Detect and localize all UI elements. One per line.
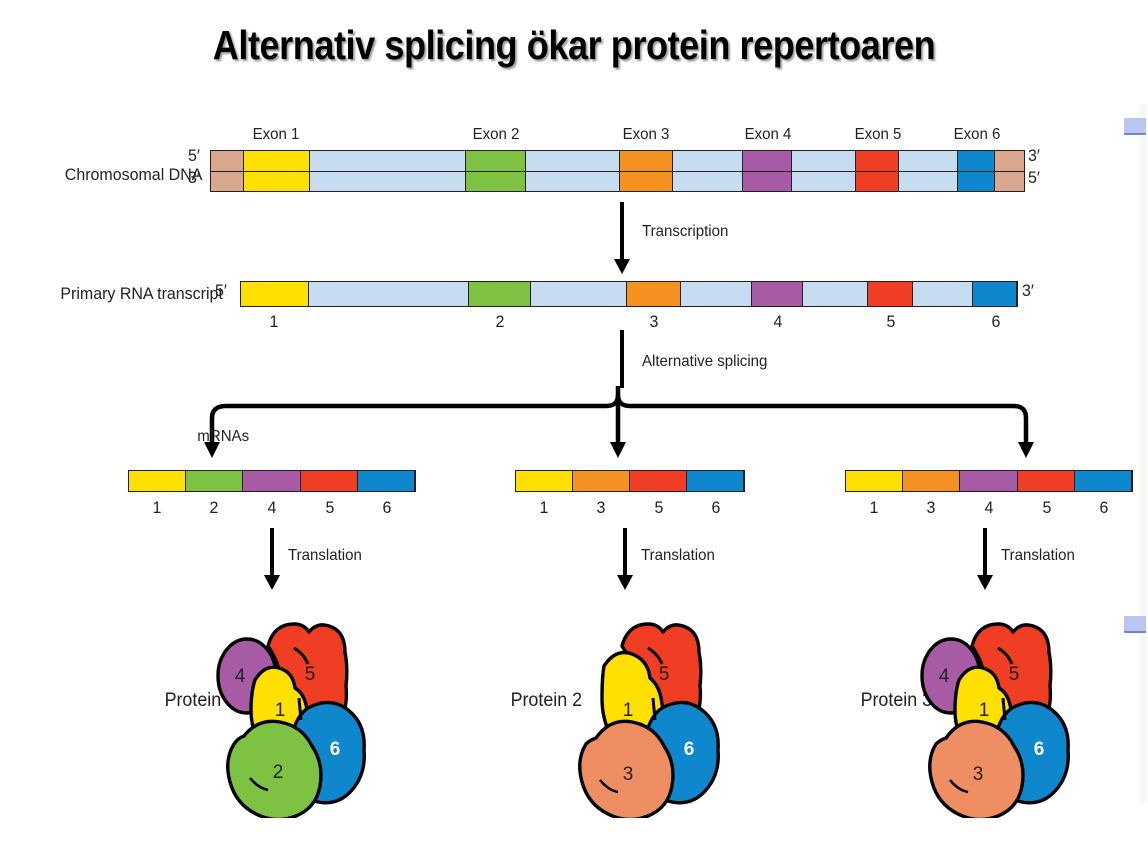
rna-three-prime: 3′ (1022, 281, 1034, 301)
mrna1-exon-1 (129, 471, 186, 491)
mrna3-exon-number-5: 5 (1042, 498, 1051, 518)
protein-2-domain-5: 5 (659, 664, 670, 685)
chromosomal-dna-duplex (210, 150, 1025, 192)
mrna2-exon-5 (630, 471, 687, 491)
dna-top-flank-12 (995, 151, 1024, 171)
mrna-bar-3 (845, 470, 1133, 492)
mrna1-exon-5 (301, 471, 358, 491)
mrna1-exon-number-5: 5 (325, 498, 334, 518)
rna-exon-2 (469, 282, 531, 306)
rna-exon-number-5: 5 (887, 312, 896, 332)
mrna3-exon-4 (960, 471, 1017, 491)
protein-3-domain-4: 4 (939, 666, 950, 687)
dna-bottom-exon-6 (958, 172, 995, 191)
mrna3-exon-number-4: 4 (985, 498, 994, 518)
protein-1-domain-5: 5 (305, 664, 316, 685)
rna-intron-1 (309, 282, 468, 306)
rna-exon-number-1: 1 (270, 312, 279, 332)
dna-five-prime-right: 5′ (1028, 168, 1040, 188)
scrollbar-strip[interactable] (1136, 104, 1148, 804)
dna-strand-bottom (211, 171, 1024, 191)
mrna2-exon-number-3: 3 (597, 498, 606, 518)
rna-intron-9 (913, 282, 974, 306)
dna-bottom-intron-2 (310, 172, 465, 191)
mrna2-exon-number-6: 6 (712, 498, 721, 518)
dna-bottom-exon-3 (620, 172, 673, 191)
protein-1-structure: 4 5 1 2 6 (198, 608, 418, 818)
protein-1-domain-4: 4 (235, 666, 246, 687)
mrna2-exon-number-5: 5 (654, 498, 663, 518)
dna-top-flank-0 (211, 151, 244, 171)
mrna1-exon-2 (186, 471, 243, 491)
scroll-marker-bottom[interactable] (1124, 616, 1146, 633)
rna-exon-number-6: 6 (992, 312, 1001, 332)
scroll-marker-top[interactable] (1124, 118, 1146, 135)
rna-exon-number-3: 3 (650, 312, 659, 332)
mrna3-exon-1 (846, 471, 903, 491)
protein-3-domain-6: 6 (1034, 739, 1045, 760)
alternative-splicing-arrow (612, 330, 632, 388)
mrna3-exon-6 (1075, 471, 1132, 491)
chromosomal-dna-label: Chromosomal DNA (64, 165, 202, 185)
mrna1-exon-number-2: 2 (210, 498, 219, 518)
rna-exon-4 (752, 282, 803, 306)
mrna2-exon-3 (573, 471, 630, 491)
translation-arrow-2 (615, 528, 635, 590)
mrna1-exon-4 (243, 471, 300, 491)
rna-intron-3 (531, 282, 627, 306)
mrna3-exon-number-6: 6 (1100, 498, 1109, 518)
dna-bottom-intron-8 (792, 172, 855, 191)
dna-bottom-flank-0 (211, 172, 244, 191)
protein-1-domain-6: 6 (330, 739, 341, 760)
mrna3-exon-5 (1018, 471, 1075, 491)
protein-3-structure: 4 5 1 3 6 (902, 608, 1122, 818)
protein-2-domain-6: 6 (684, 739, 695, 760)
dna-top-intron-8 (792, 151, 855, 171)
mrna-bar-2 (515, 470, 745, 492)
rna-five-prime: 5′ (215, 281, 227, 301)
dna-bottom-exon-5 (856, 172, 899, 191)
dna-top-intron-2 (310, 151, 465, 171)
dna-bottom-intron-4 (526, 172, 620, 191)
mrna3-exon-number-1: 1 (869, 498, 878, 518)
dna-bottom-intron-6 (673, 172, 743, 191)
protein-2-domain-3: 3 (623, 764, 634, 785)
rna-exon-1 (241, 282, 309, 306)
rna-exon-number-2: 2 (495, 312, 504, 332)
dna-three-prime-right: 3′ (1028, 146, 1040, 166)
mrna2-exon-6 (687, 471, 744, 491)
exon-caption-4: Exon 4 (744, 126, 791, 144)
translation-arrow-3 (975, 528, 995, 590)
dna-bottom-intron-10 (899, 172, 958, 191)
exon-caption-3: Exon 3 (623, 126, 670, 144)
mrna3-exon-3 (903, 471, 960, 491)
translation-label-1: Translation (288, 547, 362, 565)
protein-3-domain-5: 5 (1009, 664, 1020, 685)
mrna1-exon-number-6: 6 (383, 498, 392, 518)
dna-five-prime-left: 5′ (188, 146, 200, 166)
translation-label-3: Translation (1001, 547, 1075, 565)
dna-top-exon-4 (743, 151, 793, 171)
dna-bottom-flank-12 (995, 172, 1024, 191)
dna-strand-top (211, 151, 1024, 171)
mrnas-label: mRNAs (197, 428, 249, 446)
dna-top-exon-2 (466, 151, 526, 171)
protein-1-domain-1: 1 (275, 700, 286, 721)
rna-exon-3 (627, 282, 681, 306)
protein-1-domain-2: 2 (273, 762, 284, 783)
alternative-splicing-label: Alternative splicing (642, 353, 767, 371)
rna-intron-5 (681, 282, 752, 306)
protein-3-domain-1: 1 (979, 700, 990, 721)
protein-2-domain-1: 1 (623, 700, 634, 721)
exon-caption-1: Exon 1 (253, 126, 300, 144)
exon-caption-2: Exon 2 (472, 126, 519, 144)
mrna-bar-1 (128, 470, 416, 492)
dna-top-exon-5 (856, 151, 899, 171)
mrna3-exon-number-3: 3 (927, 498, 936, 518)
mrna1-exon-6 (358, 471, 415, 491)
protein-3-domain-3: 3 (973, 764, 984, 785)
dna-top-exon-6 (958, 151, 995, 171)
translation-arrow-1 (262, 528, 282, 590)
mrna1-exon-number-1: 1 (152, 498, 161, 518)
rna-exon-5 (868, 282, 912, 306)
page-title: Alternativ splicing ökar protein reperto… (69, 22, 1079, 69)
protein-2-structure: 5 1 3 6 (552, 608, 772, 818)
rna-exon-6 (973, 282, 1017, 306)
dna-top-intron-10 (899, 151, 958, 171)
transcription-label: Transcription (642, 223, 728, 241)
primary-rna-transcript-label: Primary RNA transcript (60, 284, 223, 304)
dna-bottom-exon-2 (466, 172, 526, 191)
mrna2-exon-1 (516, 471, 573, 491)
dna-top-exon-1 (244, 151, 310, 171)
rna-exon-number-4: 4 (774, 312, 783, 332)
splice-branch-bracket (200, 386, 1040, 458)
rna-intron-7 (803, 282, 868, 306)
transcription-arrow (612, 202, 632, 274)
dna-top-intron-4 (526, 151, 620, 171)
dna-top-intron-6 (673, 151, 743, 171)
mrna2-exon-number-1: 1 (539, 498, 548, 518)
exon-caption-6: Exon 6 (954, 126, 1001, 144)
dna-bottom-exon-1 (244, 172, 310, 191)
exon-caption-5: Exon 5 (854, 126, 901, 144)
dna-bottom-exon-4 (743, 172, 793, 191)
translation-label-2: Translation (641, 547, 715, 565)
slide-canvas: Alternativ splicing ökar protein reperto… (0, 0, 1148, 848)
primary-rna-transcript-bar (240, 281, 1018, 307)
dna-three-prime-left: 3′ (188, 168, 200, 188)
mrna1-exon-number-4: 4 (268, 498, 277, 518)
dna-top-exon-3 (620, 151, 673, 171)
